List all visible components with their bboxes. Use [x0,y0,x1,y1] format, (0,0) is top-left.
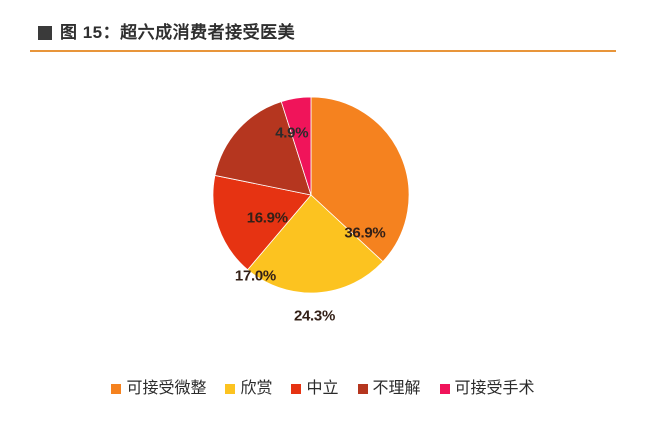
legend-swatch-icon [358,384,368,394]
legend-item-label: 不理解 [373,380,421,398]
legend-item[interactable]: 不理解 [358,377,421,401]
pie-slice-label: 36.9% [344,225,385,242]
chart-title-block: 图 15：超六成消费者接受医美 [0,0,646,62]
legend-item[interactable]: 可接受手术 [440,377,535,401]
pie-svg [212,96,410,294]
legend-swatch-icon [291,384,301,394]
legend-item[interactable]: 欣赏 [225,377,272,401]
pie-slice-label: 17.0% [235,268,276,285]
legend-item[interactable]: 中立 [291,377,338,401]
page-title: 图 15：超六成消费者接受医美 [60,23,295,43]
legend-item-label: 欣赏 [240,380,272,398]
chart-legend: 可接受微整欣赏中立不理解可接受手术 [0,374,646,404]
legend-item-label: 中立 [306,380,338,398]
pie-slice-group [213,97,409,293]
legend-swatch-icon [440,384,450,394]
legend-item-label: 可接受微整 [126,380,206,398]
pie-chart: 36.9%24.3%17.0%16.9%4.9% [0,62,646,362]
pie-slice-label: 16.9% [247,209,288,226]
legend-swatch-icon [111,384,121,394]
pie-slice-label: 4.9% [275,125,308,142]
pie-slice-label: 24.3% [294,307,335,324]
title-row: 图 15：超六成消费者接受医美 [38,20,295,46]
legend-swatch-icon [225,384,235,394]
title-divider [30,50,616,52]
square-bullet-icon [38,26,52,40]
legend-item-label: 可接受手术 [455,380,535,398]
pie-graphic [212,96,410,294]
legend-item[interactable]: 可接受微整 [111,377,206,401]
